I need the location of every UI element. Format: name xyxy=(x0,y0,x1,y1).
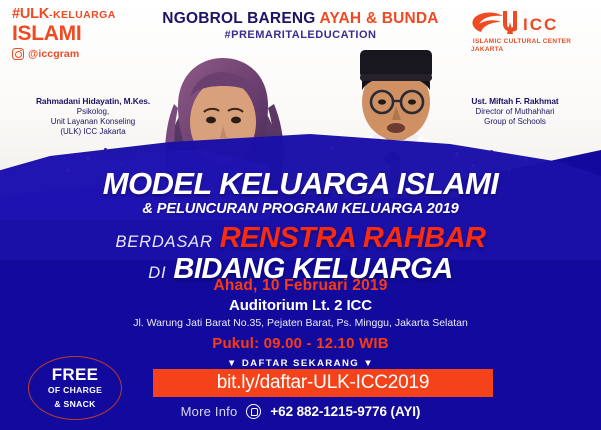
icc-subtitle-line1: ISLAMIC CULTURAL CENTER xyxy=(463,38,581,46)
instagram-row[interactable]: @iccgram xyxy=(12,48,116,60)
icc-subtitle-line2: JAKARTA xyxy=(463,46,581,53)
event-time: Pukul: 09.00 - 12.10 WIB xyxy=(0,335,601,352)
paint-splatter xyxy=(138,150,140,152)
speaker-name: Rahmadani Hidayatin, M.Kes. xyxy=(8,96,178,107)
paint-splatter xyxy=(490,150,493,153)
free-badge-line-2: OF CHARGE xyxy=(48,385,102,396)
paint-splatter xyxy=(104,148,107,151)
svg-text:ICC: ICC xyxy=(523,15,558,34)
paint-splatter xyxy=(120,162,123,165)
title-line-3: BERDASAR RENSTRA RAHBAR xyxy=(0,224,601,253)
free-badge-line-3: & SNACK xyxy=(54,399,95,410)
speaker-role-2: Group of Schools xyxy=(435,117,595,127)
event-poster: #ULK-KELUARGA ISLAMI @iccgram NGOBROL BA… xyxy=(0,0,601,430)
instagram-icon xyxy=(12,48,24,60)
speaker-role-1: Director of Muthahhari xyxy=(435,107,595,117)
paint-splatter xyxy=(86,156,90,160)
speaker-name: Ust. Miftah F. Rakhmat xyxy=(435,96,595,107)
contact-phone[interactable]: +62 882-1215-9776 (AYI) xyxy=(270,404,420,419)
icc-logo-mark: ICC xyxy=(463,8,581,38)
registration-link-button[interactable]: bit.ly/daftar-ULK-ICC2019 xyxy=(153,369,493,397)
title-line-1: MODEL KELUARGA ISLAMI xyxy=(0,168,601,199)
paint-splatter xyxy=(455,152,459,156)
event-details: Ahad, 10 Februari 2019 Auditorium Lt. 2 … xyxy=(0,277,601,352)
speaker-role-2: Unit Layanan Konseling xyxy=(8,117,178,127)
instagram-handle: @iccgram xyxy=(28,48,79,60)
free-badge: FREE OF CHARGE & SNACK xyxy=(28,356,122,420)
paint-splatter xyxy=(330,146,333,149)
whatsapp-icon[interactable] xyxy=(246,404,261,419)
more-info-label: More Info xyxy=(181,404,238,419)
main-title: MODEL KELUARGA ISLAMI & PELUNCURAN PROGR… xyxy=(0,168,601,284)
title-line-3-main: RENSTRA RAHBAR xyxy=(220,224,486,253)
event-date: Ahad, 10 Februari 2019 xyxy=(0,277,601,295)
speaker-credentials-right: Ust. Miftah F. Rakhmat Director of Mutha… xyxy=(435,96,595,127)
title-line-2: & PELUNCURAN PROGRAM KELUARGA 2019 xyxy=(0,202,601,217)
event-venue: Auditorium Lt. 2 ICC xyxy=(0,297,601,314)
icc-logo: ICC ISLAMIC CULTURAL CENTER JAKARTA xyxy=(463,8,581,53)
event-address: Jl. Warung Jati Barat No.35, Pejaten Bar… xyxy=(0,317,601,329)
title-line-3-lead: BERDASAR xyxy=(116,234,213,251)
paint-splatter xyxy=(300,140,302,142)
free-badge-line-1: FREE xyxy=(52,366,99,383)
speaker-role-3: (ULK) ICC Jakarta xyxy=(8,127,178,137)
speaker-role-1: Psikolog, xyxy=(8,107,178,117)
speaker-credentials-left: Rahmadani Hidayatin, M.Kes. Psikolog, Un… xyxy=(8,96,178,137)
paint-splatter xyxy=(524,158,527,161)
